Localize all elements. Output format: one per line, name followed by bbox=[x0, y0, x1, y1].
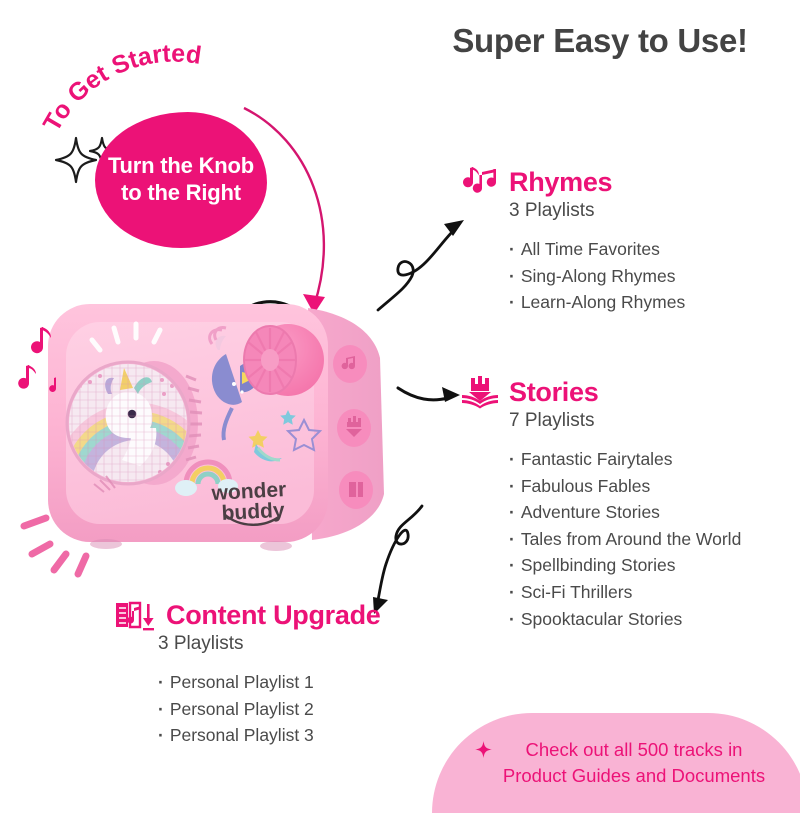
section-content-upgrade: Content Upgrade 3 Playlists Personal Pla… bbox=[113, 598, 381, 749]
wonder-buddy-speaker[interactable]: wonder buddy bbox=[36, 288, 408, 556]
upgrade-title: Content Upgrade bbox=[166, 600, 381, 631]
upgrade-subtitle: 3 Playlists bbox=[158, 633, 381, 655]
rhymes-heading: Rhymes bbox=[460, 165, 685, 199]
infographic-canvas: Super Easy to Use! To Get Started bbox=[0, 0, 800, 800]
list-item: Spellbinding Stories bbox=[509, 552, 741, 579]
upgrade-list: Personal Playlist 1 Personal Playlist 2 … bbox=[158, 669, 381, 749]
list-item: Sci-Fi Thrillers bbox=[509, 579, 741, 606]
volume-knob bbox=[244, 324, 324, 396]
footer-banner: Check out all 500 tracks in Product Guid… bbox=[432, 713, 800, 813]
brand-logo: wonder buddy bbox=[210, 478, 287, 525]
rhymes-subtitle: 3 Playlists bbox=[509, 200, 685, 222]
rhymes-list: All Time Favorites Sing-Along Rhymes Lea… bbox=[509, 236, 685, 316]
list-item: Personal Playlist 1 bbox=[158, 669, 381, 696]
page-title: Super Easy to Use! bbox=[400, 22, 800, 60]
book-note-download-icon bbox=[113, 598, 157, 632]
get-started-blob: Turn the Knob to the Right bbox=[95, 112, 267, 248]
svg-text:buddy: buddy bbox=[221, 499, 285, 525]
stories-title: Stories bbox=[509, 377, 598, 408]
list-item: Learn-Along Rhymes bbox=[509, 289, 685, 316]
rhymes-title: Rhymes bbox=[509, 167, 612, 198]
section-stories: Stories 7 Playlists Fantastic Fairytales… bbox=[460, 375, 741, 632]
section-rhymes: Rhymes 3 Playlists All Time Favorites Si… bbox=[460, 165, 685, 316]
arrow-to-stories-icon bbox=[398, 376, 468, 417]
stories-heading: Stories bbox=[460, 375, 741, 409]
list-item: Personal Playlist 3 bbox=[158, 722, 381, 749]
music-notes-icon bbox=[460, 165, 500, 199]
list-item: Fabulous Fables bbox=[509, 473, 741, 500]
sparkle-solid-icon bbox=[475, 741, 492, 758]
list-item: Tales from Around the World bbox=[509, 526, 741, 553]
list-item: Sing-Along Rhymes bbox=[509, 263, 685, 290]
list-item: Spooktacular Stories bbox=[509, 606, 741, 633]
list-item: Personal Playlist 2 bbox=[158, 696, 381, 723]
upgrade-heading: Content Upgrade bbox=[113, 598, 381, 632]
stories-list: Fantastic Fairytales Fabulous Fables Adv… bbox=[509, 446, 741, 632]
stories-subtitle: 7 Playlists bbox=[509, 410, 741, 432]
blob-text: Turn the Knob to the Right bbox=[95, 153, 267, 207]
list-item: All Time Favorites bbox=[509, 236, 685, 263]
list-item: Fantastic Fairytales bbox=[509, 446, 741, 473]
castle-book-icon bbox=[460, 375, 500, 409]
list-item: Adventure Stories bbox=[509, 499, 741, 526]
footer-text: Check out all 500 tracks in Product Guid… bbox=[503, 737, 765, 790]
